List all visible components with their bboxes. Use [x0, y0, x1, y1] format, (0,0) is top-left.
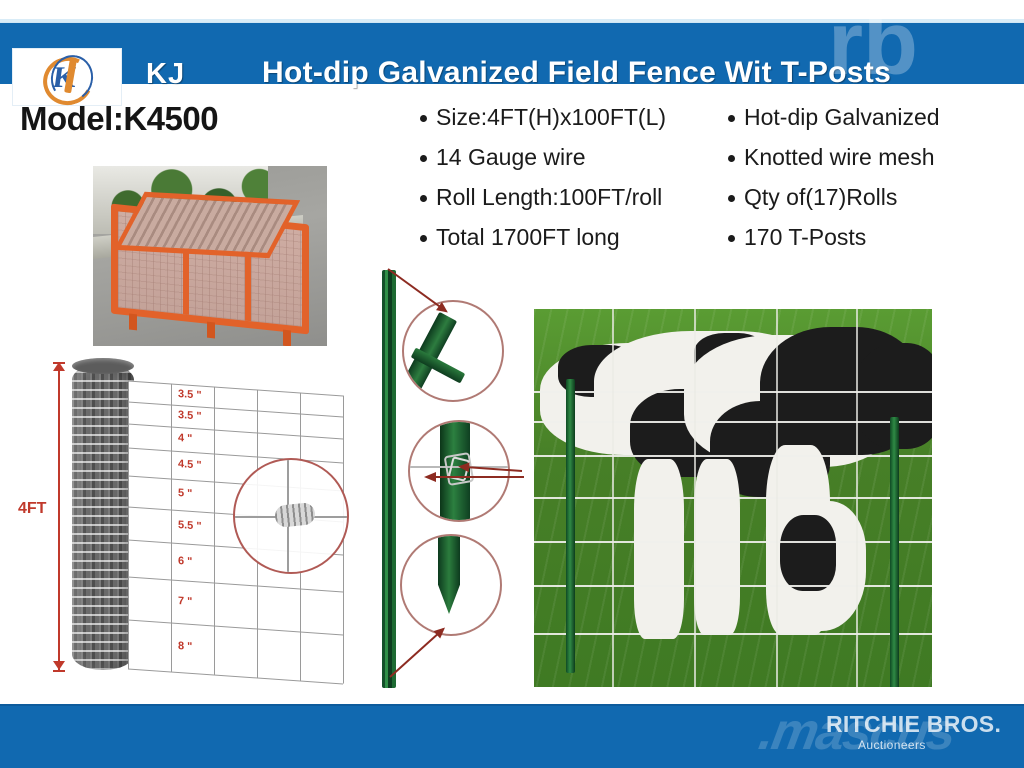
height-label: 4FT — [18, 500, 46, 518]
bullet-icon — [420, 155, 427, 162]
crate-photo — [92, 165, 328, 347]
callout-arrow-from-photo — [436, 476, 524, 478]
tpost-top-detail — [402, 300, 504, 402]
dimension-arrow-bottom-icon — [53, 661, 65, 670]
slide-page: K KJ Hot-dip Galvanized Field Fence Wit … — [0, 0, 1024, 768]
cow-leg — [634, 459, 684, 639]
green-t-post — [382, 270, 396, 688]
footer-bar: .mascus RITCHIE BROS. Auctioneers — [0, 704, 1024, 768]
fence-wire — [534, 497, 932, 499]
fence-wire — [534, 633, 932, 635]
fence-stay — [612, 309, 614, 687]
mesh-horizontal-wire — [128, 577, 343, 593]
ritchie-bros-name: RITCHIE BROS. — [826, 713, 1001, 736]
fence-wire — [534, 421, 932, 423]
mesh-horizontal-wire — [128, 668, 343, 684]
mesh-spacing-label: 8 " — [178, 640, 192, 653]
fence-wire — [534, 585, 932, 587]
fence-stay — [776, 309, 778, 687]
spec-text: Roll Length:100FT/roll — [436, 186, 662, 209]
bullet-icon — [420, 195, 427, 202]
bullet-icon — [728, 155, 735, 162]
spec-text: 14 Gauge wire — [436, 146, 586, 169]
mesh-vertical-stay — [214, 386, 215, 674]
mesh-horizontal-wire — [128, 402, 343, 418]
fence-stay — [694, 309, 696, 687]
cows-photo — [533, 308, 933, 688]
fence-stay — [856, 309, 858, 687]
fence-t-post — [566, 379, 575, 673]
mesh-vertical-stay — [171, 383, 172, 671]
ritchie-bros-glyph-icon: rb — [828, 4, 902, 82]
fence-t-post — [890, 417, 899, 688]
mesh-spacing-label: 4.5 " — [178, 458, 202, 472]
fence-roll — [72, 364, 134, 670]
crate-leg — [207, 322, 215, 339]
kj-logo-icon: K — [41, 53, 93, 101]
bullet-icon — [728, 115, 735, 122]
mesh-horizontal-wire — [128, 380, 343, 396]
mesh-horizontal-wire — [128, 619, 343, 635]
spec-item: Qty of(17)Rolls — [728, 186, 1020, 209]
fence-wire — [534, 541, 932, 543]
tpost-point-icon — [438, 534, 460, 614]
tpost-tip-detail — [400, 534, 502, 636]
spec-text: 170 T-Posts — [744, 226, 866, 249]
mesh-spacing-label: 5 " — [178, 487, 192, 500]
tpost-profile-icon — [403, 312, 457, 390]
spec-text: Total 1700FT long — [436, 226, 620, 249]
spec-item: Roll Length:100FT/roll — [420, 186, 712, 209]
knot-detail-circle — [233, 458, 349, 574]
brand-name: KJ — [146, 58, 185, 91]
mesh-spacing-label: 6 " — [178, 555, 192, 568]
ritchie-bros-tagline: Auctioneers — [826, 736, 1001, 754]
spec-item: Knotted wire mesh — [728, 146, 1020, 169]
dimension-cap — [53, 670, 65, 672]
ritchie-bros-watermark: RITCHIE BROS. Auctioneers — [826, 713, 1001, 754]
crate-leg — [129, 313, 137, 330]
spec-item: 170 T-Posts — [728, 226, 1020, 249]
spec-item: Hot-dip Galvanized — [728, 106, 1020, 129]
mesh-spacing-label: 3.5 " — [178, 409, 202, 423]
cow-head-patch — [780, 515, 836, 591]
wire-knot-icon — [274, 502, 316, 528]
spec-text: Hot-dip Galvanized — [744, 106, 940, 129]
callout-arrow-top — [387, 268, 446, 312]
spec-lists: Size:4FT(H)x100FT(L) 14 Gauge wire Roll … — [420, 106, 1020, 266]
mesh-spacing-label: 3.5 " — [178, 388, 202, 402]
tpost-diagram — [370, 262, 530, 694]
model-label: Model:K4500 — [20, 100, 218, 138]
spec-column-right: Hot-dip Galvanized Knotted wire mesh Qty… — [728, 106, 1020, 266]
bullet-icon — [420, 235, 427, 242]
crate-leg — [283, 330, 291, 347]
spec-item: Size:4FT(H)x100FT(L) — [420, 106, 712, 129]
spec-text: Qty of(17)Rolls — [744, 186, 897, 209]
fence-wire — [534, 455, 932, 457]
spec-item: 14 Gauge wire — [420, 146, 712, 169]
mesh-vertical-stay — [128, 380, 129, 668]
mesh-spacing-label: 5.5 " — [178, 519, 202, 533]
page-title: Hot-dip Galvanized Field Fence Wit T-Pos… — [262, 56, 891, 90]
bullet-icon — [728, 195, 735, 202]
cow-leg — [694, 459, 740, 635]
fence-roll-top — [72, 358, 134, 374]
callout-arrow-bottom — [389, 628, 444, 678]
crate-top-rolls — [114, 192, 300, 258]
mesh-spacing-label: 7 " — [178, 595, 192, 608]
spec-text: Size:4FT(H)x100FT(L) — [436, 106, 666, 129]
mesh-spacing-label: 4 " — [178, 432, 192, 445]
mesh-horizontal-wire — [128, 423, 343, 439]
fence-wire — [534, 391, 932, 393]
spec-text: Knotted wire mesh — [744, 146, 934, 169]
bullet-icon — [728, 235, 735, 242]
company-logo: K — [12, 48, 122, 106]
dimension-cap — [53, 362, 65, 364]
spec-item: Total 1700FT long — [420, 226, 712, 249]
height-dimension-line — [58, 362, 60, 672]
bullet-icon — [420, 115, 427, 122]
spec-column-left: Size:4FT(H)x100FT(L) 14 Gauge wire Roll … — [420, 106, 712, 266]
